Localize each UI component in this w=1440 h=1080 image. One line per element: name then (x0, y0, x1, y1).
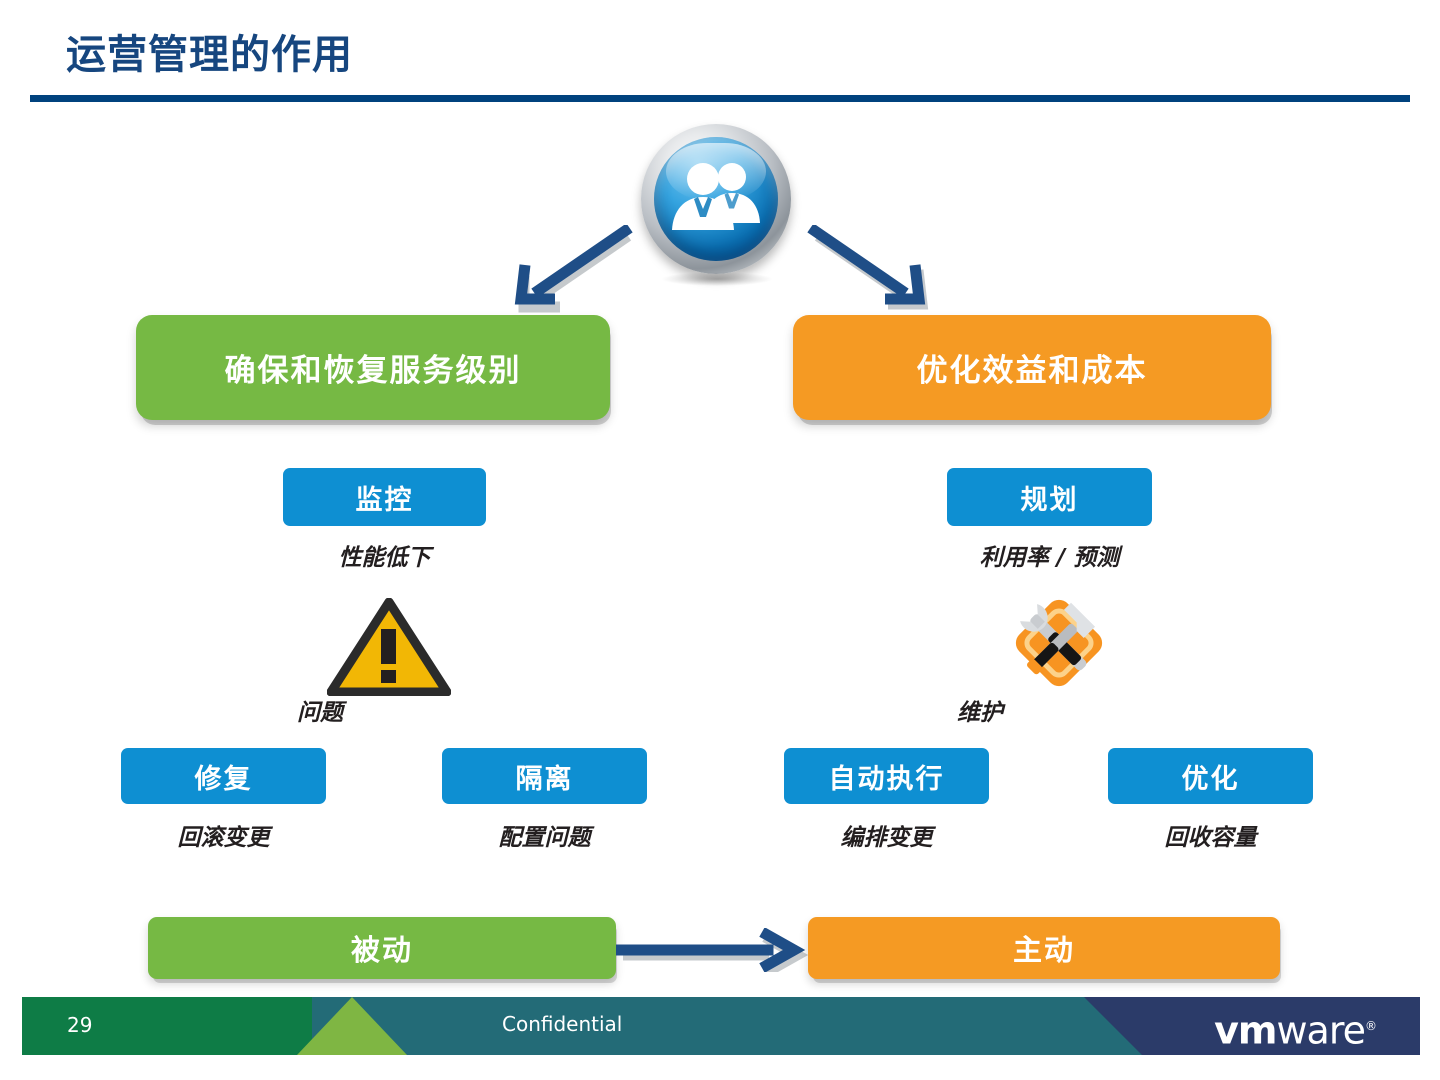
warning-triangle-icon (327, 598, 451, 696)
vmware-logo-bold: vm (1214, 1009, 1276, 1053)
registered-mark-icon: ® (1365, 1019, 1376, 1033)
step-box-plan[interactable]: 规划 (947, 468, 1152, 526)
confidentiality-label: Confidential (502, 1012, 622, 1036)
people-figures-icon (654, 137, 778, 261)
step-caption-remediate: 回滚变更 (121, 818, 326, 852)
page-number: 29 (67, 1013, 92, 1037)
tools-icon (1003, 592, 1115, 694)
footer-green-block (22, 997, 312, 1055)
step-caption-maintenance: 维护 (890, 693, 1070, 727)
step-caption-optimize: 回收容量 (1108, 818, 1313, 852)
people-icon-inner (654, 137, 778, 261)
step-box-optimize[interactable]: 优化 (1108, 748, 1313, 804)
summary-box-proactive[interactable]: 主动 (808, 917, 1280, 979)
title-divider (30, 95, 1410, 102)
people-icon (641, 124, 791, 274)
arrow-right-icon (616, 928, 826, 972)
step-box-automate[interactable]: 自动执行 (784, 748, 989, 804)
people-icon-shadow (661, 272, 773, 286)
step-box-monitor[interactable]: 监控 (283, 468, 486, 526)
slide-footer: 29 Confidential vmware® (22, 997, 1420, 1055)
branch-header-left[interactable]: 确保和恢复服务级别 (136, 315, 610, 420)
slide-canvas: 运营管理的作用 (0, 0, 1440, 1080)
step-box-isolate[interactable]: 隔离 (442, 748, 647, 804)
footer-navy-wedge (1084, 997, 1142, 1055)
vmware-logo: vmware® (1214, 1005, 1376, 1052)
footer-triangle-accent (297, 997, 407, 1055)
page-title: 运营管理的作用 (66, 22, 353, 80)
branch-header-right[interactable]: 优化效益和成本 (793, 315, 1271, 420)
step-caption-problem: 问题 (230, 693, 410, 727)
step-caption-plan: 利用率 / 预测 (947, 538, 1152, 572)
footer-teal-block (312, 997, 1142, 1055)
vmware-logo-rest: ware (1276, 1009, 1365, 1053)
step-caption-automate: 编排变更 (784, 818, 989, 852)
summary-box-reactive[interactable]: 被动 (148, 917, 616, 979)
arrow-down-right-icon (805, 225, 935, 315)
step-caption-monitor: 性能低下 (283, 538, 486, 572)
arrow-down-left-icon (505, 225, 635, 315)
step-caption-isolate: 配置问题 (442, 818, 647, 852)
step-box-remediate[interactable]: 修复 (121, 748, 326, 804)
